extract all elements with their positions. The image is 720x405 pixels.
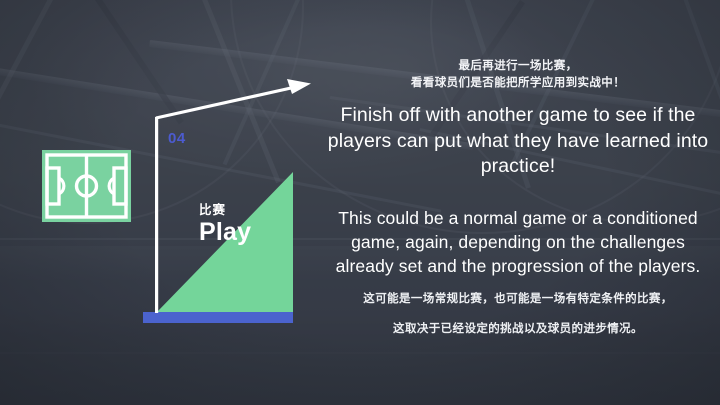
en-heading: Finish off with another game to see if t… xyxy=(322,103,714,180)
section-label-cn: 比赛 xyxy=(199,203,309,218)
cn-outro-line-2: 这取决于已经设定的挑战以及球员的进步情况。 xyxy=(322,320,714,338)
section-label-en: Play xyxy=(199,218,309,246)
section-label: 比赛 Play xyxy=(199,203,309,246)
cn-intro-line-2: 看看球员们是否能把所学应用到实战中！ xyxy=(322,75,714,92)
soccer-pitch-icon xyxy=(42,150,131,222)
cn-intro-line-1: 最后再进行一场比赛， xyxy=(322,58,714,75)
trend-arrow-head xyxy=(287,79,311,94)
copy-column: 最后再进行一场比赛， 看看球员们是否能把所学应用到实战中！ Finish off… xyxy=(322,58,714,338)
step-number: 04 xyxy=(168,130,186,147)
en-body: This could be a normal game or a conditi… xyxy=(322,206,714,278)
cn-outro-line-1: 这可能是一场常规比赛，也可能是一场有特定条件的比赛， xyxy=(322,290,714,308)
baseline-bar xyxy=(143,312,293,323)
trend-arrow-shaft xyxy=(156,86,300,118)
axis-line xyxy=(155,117,158,313)
slide-root: 04 比赛 Play 最后再进行一场比赛， 看看球员们是否能把所学应用到实战中！… xyxy=(0,0,720,405)
